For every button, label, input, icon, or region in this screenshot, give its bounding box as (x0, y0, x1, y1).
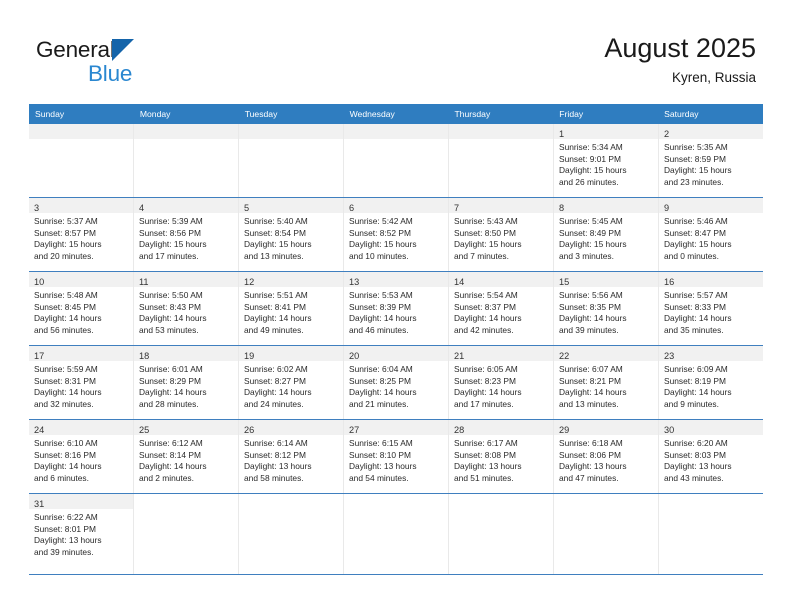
day-cell-7[interactable]: 7Sunrise: 5:43 AMSunset: 8:50 PMDaylight… (449, 198, 554, 271)
day-details: Sunrise: 6:09 AMSunset: 8:19 PMDaylight:… (659, 361, 763, 410)
day-detail-line: Sunrise: 5:37 AM (34, 216, 129, 228)
day-number-band (449, 494, 553, 509)
day-detail-line: Sunrise: 6:02 AM (244, 364, 339, 376)
day-detail-line: and 56 minutes. (34, 325, 129, 337)
day-number: 22 (559, 351, 569, 361)
day-detail-line: Daylight: 15 hours (139, 239, 234, 251)
day-detail-line: Daylight: 13 hours (454, 461, 549, 473)
day-detail-line: Sunrise: 5:53 AM (349, 290, 444, 302)
day-details (344, 509, 448, 512)
day-details (554, 509, 658, 512)
day-detail-line: Sunrise: 6:07 AM (559, 364, 654, 376)
day-detail-line: and 0 minutes. (664, 251, 759, 263)
calendar-week-row: 24Sunrise: 6:10 AMSunset: 8:16 PMDayligh… (29, 420, 763, 494)
calendar-week-row: 1Sunrise: 5:34 AMSunset: 9:01 PMDaylight… (29, 124, 763, 198)
day-detail-line: and 24 minutes. (244, 399, 339, 411)
day-detail-line: Sunset: 8:39 PM (349, 302, 444, 314)
day-number: 2 (664, 129, 669, 139)
day-detail-line: and 51 minutes. (454, 473, 549, 485)
day-detail-line: Daylight: 15 hours (559, 165, 654, 177)
triangle-icon (112, 39, 134, 61)
day-detail-line: Daylight: 13 hours (34, 535, 129, 547)
day-detail-line: Sunset: 9:01 PM (559, 154, 654, 166)
day-number: 26 (244, 425, 254, 435)
day-cell-2[interactable]: 2Sunrise: 5:35 AMSunset: 8:59 PMDaylight… (659, 124, 763, 197)
day-detail-line: Sunset: 8:56 PM (139, 228, 234, 240)
day-detail-line: Sunrise: 5:46 AM (664, 216, 759, 228)
day-details: Sunrise: 5:35 AMSunset: 8:59 PMDaylight:… (659, 139, 763, 188)
day-number-band: 20 (344, 346, 448, 361)
day-detail-line: Sunset: 8:01 PM (34, 524, 129, 536)
day-detail-line: Sunset: 8:33 PM (664, 302, 759, 314)
day-number: 14 (454, 277, 464, 287)
day-cell-26[interactable]: 26Sunrise: 6:14 AMSunset: 8:12 PMDayligh… (239, 420, 344, 493)
day-number-band: 1 (554, 124, 658, 139)
day-cell-24[interactable]: 24Sunrise: 6:10 AMSunset: 8:16 PMDayligh… (29, 420, 134, 493)
day-detail-line: Sunset: 8:14 PM (139, 450, 234, 462)
day-number-band: 18 (134, 346, 238, 361)
day-cell-8[interactable]: 8Sunrise: 5:45 AMSunset: 8:49 PMDaylight… (554, 198, 659, 271)
day-cell-empty (239, 124, 344, 197)
day-details (134, 139, 238, 142)
day-number-band (449, 124, 553, 139)
day-cell-20[interactable]: 20Sunrise: 6:04 AMSunset: 8:25 PMDayligh… (344, 346, 449, 419)
day-cell-19[interactable]: 19Sunrise: 6:02 AMSunset: 8:27 PMDayligh… (239, 346, 344, 419)
brand-logo[interactable]: General Blue (36, 38, 216, 90)
day-cell-empty (659, 494, 763, 574)
day-detail-line: Sunrise: 6:05 AM (454, 364, 549, 376)
day-cell-4[interactable]: 4Sunrise: 5:39 AMSunset: 8:56 PMDaylight… (134, 198, 239, 271)
day-details: Sunrise: 5:53 AMSunset: 8:39 PMDaylight:… (344, 287, 448, 336)
day-number: 8 (559, 203, 564, 213)
day-detail-line: Sunrise: 6:01 AM (139, 364, 234, 376)
day-number: 7 (454, 203, 459, 213)
day-detail-line: Daylight: 14 hours (244, 313, 339, 325)
day-cell-10[interactable]: 10Sunrise: 5:48 AMSunset: 8:45 PMDayligh… (29, 272, 134, 345)
day-number-band: 31 (29, 494, 133, 509)
day-detail-line: and 2 minutes. (139, 473, 234, 485)
day-number-band: 5 (239, 198, 343, 213)
day-number-band: 13 (344, 272, 448, 287)
day-number: 19 (244, 351, 254, 361)
day-number: 29 (559, 425, 569, 435)
day-detail-line: and 17 minutes. (139, 251, 234, 263)
day-detail-line: and 53 minutes. (139, 325, 234, 337)
day-number: 12 (244, 277, 254, 287)
day-number-band: 15 (554, 272, 658, 287)
day-number-band: 4 (134, 198, 238, 213)
day-detail-line: and 42 minutes. (454, 325, 549, 337)
day-detail-line: Sunrise: 5:56 AM (559, 290, 654, 302)
day-detail-line: Sunrise: 5:57 AM (664, 290, 759, 302)
day-details: Sunrise: 6:17 AMSunset: 8:08 PMDaylight:… (449, 435, 553, 484)
day-detail-line: and 46 minutes. (349, 325, 444, 337)
day-detail-line: and 49 minutes. (244, 325, 339, 337)
day-detail-line: Sunset: 8:03 PM (664, 450, 759, 462)
brand-name-general: General (36, 38, 115, 62)
day-details (239, 139, 343, 142)
day-detail-line: Daylight: 14 hours (349, 387, 444, 399)
day-number: 13 (349, 277, 359, 287)
day-detail-line: Sunset: 8:57 PM (34, 228, 129, 240)
day-number-band: 10 (29, 272, 133, 287)
day-detail-line: Daylight: 14 hours (454, 387, 549, 399)
day-detail-line: Sunset: 8:23 PM (454, 376, 549, 388)
day-detail-line: Sunrise: 5:51 AM (244, 290, 339, 302)
day-number-band: 22 (554, 346, 658, 361)
day-detail-line: and 23 minutes. (664, 177, 759, 189)
day-number-band: 8 (554, 198, 658, 213)
day-number: 18 (139, 351, 149, 361)
day-detail-line: Sunrise: 5:42 AM (349, 216, 444, 228)
day-number: 3 (34, 203, 39, 213)
day-detail-line: Sunrise: 5:59 AM (34, 364, 129, 376)
day-detail-line: Sunset: 8:59 PM (664, 154, 759, 166)
day-detail-line: Daylight: 14 hours (559, 387, 654, 399)
day-detail-line: Daylight: 14 hours (139, 387, 234, 399)
day-detail-line: Sunrise: 6:09 AM (664, 364, 759, 376)
day-details: Sunrise: 6:04 AMSunset: 8:25 PMDaylight:… (344, 361, 448, 410)
day-cell-empty (344, 494, 449, 574)
day-detail-line: Sunrise: 5:40 AM (244, 216, 339, 228)
day-details: Sunrise: 5:48 AMSunset: 8:45 PMDaylight:… (29, 287, 133, 336)
day-detail-line: Sunset: 8:41 PM (244, 302, 339, 314)
day-details: Sunrise: 5:54 AMSunset: 8:37 PMDaylight:… (449, 287, 553, 336)
day-detail-line: Daylight: 13 hours (559, 461, 654, 473)
day-number-band (659, 494, 763, 509)
day-cell-empty (449, 494, 554, 574)
day-detail-line: and 13 minutes. (559, 399, 654, 411)
day-number-band: 27 (344, 420, 448, 435)
day-cell-empty (344, 124, 449, 197)
day-detail-line: and 47 minutes. (559, 473, 654, 485)
day-detail-line: Daylight: 15 hours (244, 239, 339, 251)
day-detail-line: Daylight: 14 hours (244, 387, 339, 399)
day-number: 24 (34, 425, 44, 435)
day-detail-line: Sunrise: 6:18 AM (559, 438, 654, 450)
day-detail-line: Sunset: 8:52 PM (349, 228, 444, 240)
day-number-band: 16 (659, 272, 763, 287)
day-number: 5 (244, 203, 249, 213)
day-detail-line: Sunrise: 5:39 AM (139, 216, 234, 228)
day-cell-29[interactable]: 29Sunrise: 6:18 AMSunset: 8:06 PMDayligh… (554, 420, 659, 493)
day-detail-line: and 13 minutes. (244, 251, 339, 263)
calendar-week-row: 3Sunrise: 5:37 AMSunset: 8:57 PMDaylight… (29, 198, 763, 272)
day-detail-line: Daylight: 14 hours (664, 313, 759, 325)
day-number-band: 11 (134, 272, 238, 287)
day-detail-line: and 54 minutes. (349, 473, 444, 485)
day-detail-line: Sunset: 8:21 PM (559, 376, 654, 388)
day-detail-line: Daylight: 13 hours (244, 461, 339, 473)
day-detail-line: Sunrise: 6:10 AM (34, 438, 129, 450)
day-detail-line: Sunrise: 5:34 AM (559, 142, 654, 154)
day-details: Sunrise: 6:22 AMSunset: 8:01 PMDaylight:… (29, 509, 133, 558)
day-detail-line: Daylight: 14 hours (139, 313, 234, 325)
day-detail-line: and 7 minutes. (454, 251, 549, 263)
day-cell-16[interactable]: 16Sunrise: 5:57 AMSunset: 8:33 PMDayligh… (659, 272, 763, 345)
day-detail-line: Sunset: 8:19 PM (664, 376, 759, 388)
day-detail-line: Daylight: 14 hours (349, 313, 444, 325)
day-number-band: 17 (29, 346, 133, 361)
day-detail-line: and 28 minutes. (139, 399, 234, 411)
day-details: Sunrise: 5:34 AMSunset: 9:01 PMDaylight:… (554, 139, 658, 188)
day-detail-line: Sunset: 8:50 PM (454, 228, 549, 240)
day-detail-line: Sunrise: 5:35 AM (664, 142, 759, 154)
day-number: 17 (34, 351, 44, 361)
day-number: 15 (559, 277, 569, 287)
day-detail-line: Sunset: 8:27 PM (244, 376, 339, 388)
day-number-band (344, 494, 448, 509)
day-detail-line: Sunset: 8:45 PM (34, 302, 129, 314)
day-cell-13[interactable]: 13Sunrise: 5:53 AMSunset: 8:39 PMDayligh… (344, 272, 449, 345)
day-details: Sunrise: 6:01 AMSunset: 8:29 PMDaylight:… (134, 361, 238, 410)
day-details: Sunrise: 5:51 AMSunset: 8:41 PMDaylight:… (239, 287, 343, 336)
page-header: General Blue August 2025 Kyren, Russia (0, 0, 792, 100)
day-detail-line: and 17 minutes. (454, 399, 549, 411)
day-number-band: 7 (449, 198, 553, 213)
day-detail-line: Daylight: 15 hours (559, 239, 654, 251)
day-number: 27 (349, 425, 359, 435)
day-number-band: 19 (239, 346, 343, 361)
day-cell-21[interactable]: 21Sunrise: 6:05 AMSunset: 8:23 PMDayligh… (449, 346, 554, 419)
day-number: 31 (34, 499, 44, 509)
day-number-band (239, 494, 343, 509)
day-detail-line: and 20 minutes. (34, 251, 129, 263)
day-detail-line: and 39 minutes. (34, 547, 129, 559)
page-subtitle: Kyren, Russia (604, 70, 756, 86)
day-detail-line: Sunset: 8:29 PM (139, 376, 234, 388)
day-cell-17[interactable]: 17Sunrise: 5:59 AMSunset: 8:31 PMDayligh… (29, 346, 134, 419)
day-detail-line: and 39 minutes. (559, 325, 654, 337)
day-details (344, 139, 448, 142)
day-detail-line: Sunrise: 6:14 AM (244, 438, 339, 450)
day-detail-line: Daylight: 14 hours (34, 461, 129, 473)
day-details: Sunrise: 5:50 AMSunset: 8:43 PMDaylight:… (134, 287, 238, 336)
day-details: Sunrise: 5:46 AMSunset: 8:47 PMDaylight:… (659, 213, 763, 262)
day-cell-23[interactable]: 23Sunrise: 6:09 AMSunset: 8:19 PMDayligh… (659, 346, 763, 419)
day-details: Sunrise: 5:56 AMSunset: 8:35 PMDaylight:… (554, 287, 658, 336)
day-detail-line: Daylight: 15 hours (454, 239, 549, 251)
day-detail-line: Sunset: 8:47 PM (664, 228, 759, 240)
day-detail-line: Sunrise: 5:48 AM (34, 290, 129, 302)
day-detail-line: Daylight: 14 hours (454, 313, 549, 325)
day-cell-9[interactable]: 9Sunrise: 5:46 AMSunset: 8:47 PMDaylight… (659, 198, 763, 271)
day-detail-line: Daylight: 14 hours (664, 387, 759, 399)
day-cell-3[interactable]: 3Sunrise: 5:37 AMSunset: 8:57 PMDaylight… (29, 198, 134, 271)
day-detail-line: and 3 minutes. (559, 251, 654, 263)
day-detail-line: Sunset: 8:37 PM (454, 302, 549, 314)
calendar-weeks: 1Sunrise: 5:34 AMSunset: 9:01 PMDaylight… (29, 124, 763, 575)
day-details (239, 509, 343, 512)
day-detail-line: Sunset: 8:31 PM (34, 376, 129, 388)
day-detail-line: and 35 minutes. (664, 325, 759, 337)
day-details: Sunrise: 5:42 AMSunset: 8:52 PMDaylight:… (344, 213, 448, 262)
day-detail-line: Daylight: 13 hours (349, 461, 444, 473)
day-detail-line: and 6 minutes. (34, 473, 129, 485)
day-detail-line: and 32 minutes. (34, 399, 129, 411)
day-number-band (134, 494, 238, 509)
day-detail-line: Sunset: 8:06 PM (559, 450, 654, 462)
day-detail-line: Sunset: 8:35 PM (559, 302, 654, 314)
day-detail-line: Sunset: 8:54 PM (244, 228, 339, 240)
day-detail-line: Sunset: 8:08 PM (454, 450, 549, 462)
day-detail-line: Sunrise: 6:22 AM (34, 512, 129, 524)
day-detail-line: Sunrise: 6:15 AM (349, 438, 444, 450)
day-number-band: 29 (554, 420, 658, 435)
day-cell-15[interactable]: 15Sunrise: 5:56 AMSunset: 8:35 PMDayligh… (554, 272, 659, 345)
weekday-header-monday: Monday (134, 104, 239, 124)
day-detail-line: Sunrise: 6:17 AM (454, 438, 549, 450)
day-cell-empty (239, 494, 344, 574)
weekday-header-sunday: Sunday (29, 104, 134, 124)
calendar-week-row: 31Sunrise: 6:22 AMSunset: 8:01 PMDayligh… (29, 494, 763, 575)
day-number-band: 2 (659, 124, 763, 139)
day-detail-line: and 43 minutes. (664, 473, 759, 485)
day-detail-line: Sunrise: 6:04 AM (349, 364, 444, 376)
day-number: 28 (454, 425, 464, 435)
day-details: Sunrise: 5:39 AMSunset: 8:56 PMDaylight:… (134, 213, 238, 262)
day-cell-30[interactable]: 30Sunrise: 6:20 AMSunset: 8:03 PMDayligh… (659, 420, 763, 493)
day-details (134, 509, 238, 512)
calendar-week-row: 17Sunrise: 5:59 AMSunset: 8:31 PMDayligh… (29, 346, 763, 420)
day-number: 20 (349, 351, 359, 361)
day-number: 10 (34, 277, 44, 287)
day-detail-line: and 10 minutes. (349, 251, 444, 263)
day-details (659, 509, 763, 512)
day-detail-line: Sunrise: 5:43 AM (454, 216, 549, 228)
day-detail-line: Daylight: 15 hours (664, 165, 759, 177)
day-details: Sunrise: 5:40 AMSunset: 8:54 PMDaylight:… (239, 213, 343, 262)
day-cell-5[interactable]: 5Sunrise: 5:40 AMSunset: 8:54 PMDaylight… (239, 198, 344, 271)
weekday-header-friday: Friday (553, 104, 658, 124)
day-number: 16 (664, 277, 674, 287)
calendar-grid: SundayMondayTuesdayWednesdayThursdayFrid… (29, 104, 763, 575)
day-number-band (554, 494, 658, 509)
day-detail-line: and 9 minutes. (664, 399, 759, 411)
day-detail-line: Daylight: 14 hours (34, 387, 129, 399)
day-number: 9 (664, 203, 669, 213)
day-detail-line: Sunset: 8:43 PM (139, 302, 234, 314)
weekday-header-thursday: Thursday (448, 104, 553, 124)
day-number: 23 (664, 351, 674, 361)
weekday-header-saturday: Saturday (658, 104, 763, 124)
page-title: August 2025 (604, 32, 756, 64)
day-cell-11[interactable]: 11Sunrise: 5:50 AMSunset: 8:43 PMDayligh… (134, 272, 239, 345)
day-detail-line: Daylight: 14 hours (34, 313, 129, 325)
day-detail-line: Sunrise: 5:54 AM (454, 290, 549, 302)
day-cell-empty (134, 494, 239, 574)
day-cell-25[interactable]: 25Sunrise: 6:12 AMSunset: 8:14 PMDayligh… (134, 420, 239, 493)
day-detail-line: Sunset: 8:12 PM (244, 450, 339, 462)
day-detail-line: and 26 minutes. (559, 177, 654, 189)
day-detail-line: Sunrise: 5:50 AM (139, 290, 234, 302)
day-detail-line: Daylight: 15 hours (664, 239, 759, 251)
day-number-band: 12 (239, 272, 343, 287)
day-details: Sunrise: 6:05 AMSunset: 8:23 PMDaylight:… (449, 361, 553, 410)
day-number: 1 (559, 129, 564, 139)
day-detail-line: Sunrise: 6:12 AM (139, 438, 234, 450)
day-cell-22[interactable]: 22Sunrise: 6:07 AMSunset: 8:21 PMDayligh… (554, 346, 659, 419)
day-number-band (29, 124, 133, 139)
day-detail-line: Sunset: 8:49 PM (559, 228, 654, 240)
day-detail-line: Daylight: 15 hours (349, 239, 444, 251)
day-number-band: 21 (449, 346, 553, 361)
weekday-header-tuesday: Tuesday (239, 104, 344, 124)
day-details (449, 139, 553, 142)
day-details: Sunrise: 6:14 AMSunset: 8:12 PMDaylight:… (239, 435, 343, 484)
day-cell-12[interactable]: 12Sunrise: 5:51 AMSunset: 8:41 PMDayligh… (239, 272, 344, 345)
day-detail-line: Sunset: 8:16 PM (34, 450, 129, 462)
day-number-band: 23 (659, 346, 763, 361)
day-detail-line: Sunrise: 5:45 AM (559, 216, 654, 228)
day-cell-6[interactable]: 6Sunrise: 5:42 AMSunset: 8:52 PMDaylight… (344, 198, 449, 271)
day-detail-line: Daylight: 14 hours (139, 461, 234, 473)
day-cell-empty (449, 124, 554, 197)
day-cell-empty (29, 124, 134, 197)
day-number-band: 9 (659, 198, 763, 213)
day-number-band: 6 (344, 198, 448, 213)
day-details: Sunrise: 6:20 AMSunset: 8:03 PMDaylight:… (659, 435, 763, 484)
day-detail-line: Daylight: 14 hours (559, 313, 654, 325)
day-details: Sunrise: 6:18 AMSunset: 8:06 PMDaylight:… (554, 435, 658, 484)
day-detail-line: Sunrise: 6:20 AM (664, 438, 759, 450)
day-number: 21 (454, 351, 464, 361)
day-number-band (134, 124, 238, 139)
calendar-page: General Blue August 2025 Kyren, Russia S… (0, 0, 792, 612)
day-detail-line: Sunset: 8:10 PM (349, 450, 444, 462)
day-number-band (344, 124, 448, 139)
day-number-band: 25 (134, 420, 238, 435)
day-number-band: 28 (449, 420, 553, 435)
day-cell-28[interactable]: 28Sunrise: 6:17 AMSunset: 8:08 PMDayligh… (449, 420, 554, 493)
day-details: Sunrise: 6:10 AMSunset: 8:16 PMDaylight:… (29, 435, 133, 484)
day-number-band: 14 (449, 272, 553, 287)
day-details: Sunrise: 5:57 AMSunset: 8:33 PMDaylight:… (659, 287, 763, 336)
day-cell-27[interactable]: 27Sunrise: 6:15 AMSunset: 8:10 PMDayligh… (344, 420, 449, 493)
day-number: 6 (349, 203, 354, 213)
day-number: 30 (664, 425, 674, 435)
day-cell-18[interactable]: 18Sunrise: 6:01 AMSunset: 8:29 PMDayligh… (134, 346, 239, 419)
day-detail-line: and 58 minutes. (244, 473, 339, 485)
brand-name-blue: Blue (88, 62, 132, 86)
day-details (29, 139, 133, 142)
day-number-band: 26 (239, 420, 343, 435)
calendar-week-row: 10Sunrise: 5:48 AMSunset: 8:45 PMDayligh… (29, 272, 763, 346)
day-number: 25 (139, 425, 149, 435)
day-number-band: 30 (659, 420, 763, 435)
weekday-header-row: SundayMondayTuesdayWednesdayThursdayFrid… (29, 104, 763, 124)
day-number: 4 (139, 203, 144, 213)
day-details: Sunrise: 6:02 AMSunset: 8:27 PMDaylight:… (239, 361, 343, 410)
day-detail-line: Daylight: 13 hours (664, 461, 759, 473)
day-details: Sunrise: 6:15 AMSunset: 8:10 PMDaylight:… (344, 435, 448, 484)
day-cell-empty (554, 494, 659, 574)
day-cell-31[interactable]: 31Sunrise: 6:22 AMSunset: 8:01 PMDayligh… (29, 494, 134, 574)
day-number: 11 (139, 277, 149, 287)
day-detail-line: Sunset: 8:25 PM (349, 376, 444, 388)
day-details: Sunrise: 5:45 AMSunset: 8:49 PMDaylight:… (554, 213, 658, 262)
day-number-band: 3 (29, 198, 133, 213)
day-detail-line: Daylight: 15 hours (34, 239, 129, 251)
day-cell-14[interactable]: 14Sunrise: 5:54 AMSunset: 8:37 PMDayligh… (449, 272, 554, 345)
weekday-header-wednesday: Wednesday (344, 104, 449, 124)
title-block: August 2025 Kyren, Russia (604, 32, 756, 86)
day-details: Sunrise: 6:12 AMSunset: 8:14 PMDaylight:… (134, 435, 238, 484)
day-details: Sunrise: 5:59 AMSunset: 8:31 PMDaylight:… (29, 361, 133, 410)
day-number-band: 24 (29, 420, 133, 435)
day-cell-1[interactable]: 1Sunrise: 5:34 AMSunset: 9:01 PMDaylight… (554, 124, 659, 197)
day-number-band (239, 124, 343, 139)
